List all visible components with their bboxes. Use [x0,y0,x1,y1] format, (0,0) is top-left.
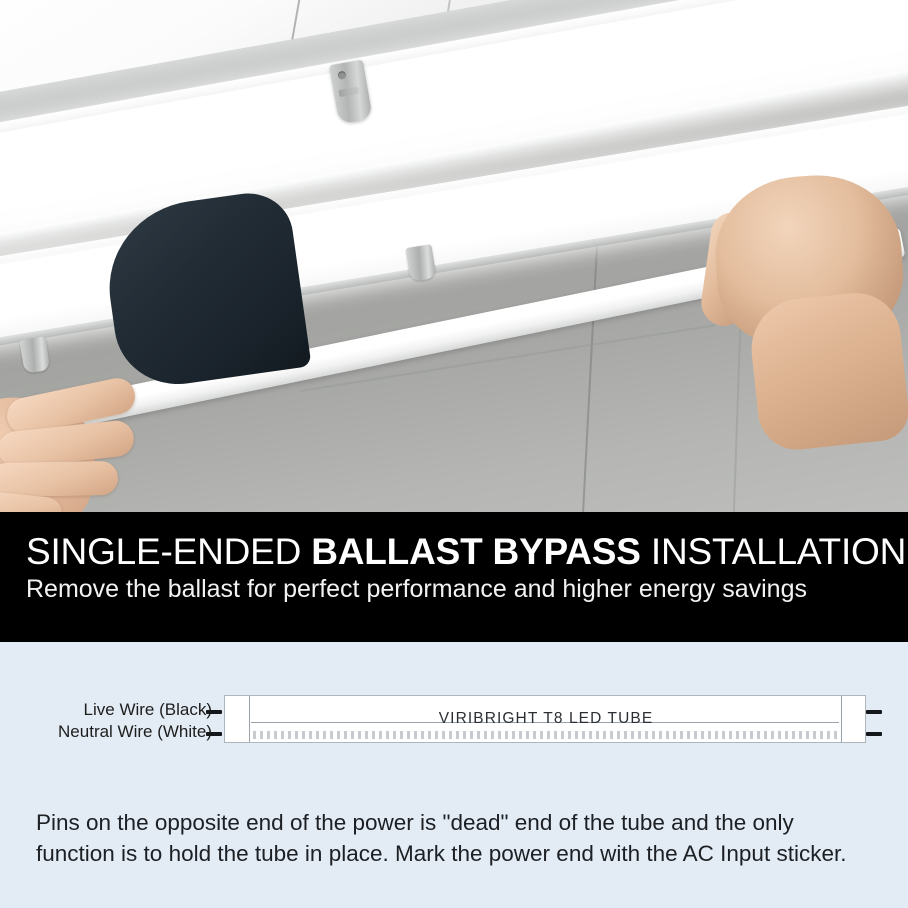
title-bold: BALLAST BYPASS [311,531,641,572]
live-wire-label: Live Wire (Black) [84,700,212,720]
tube-brand-label: VIRIBRIGHT T8 LED TUBE [225,710,867,728]
led-strip [253,731,837,739]
infographic-page: SINGLE-ENDED BALLAST BYPASS INSTALLATION… [0,0,908,908]
title-prefix: SINGLE-ENDED [26,531,311,572]
left-ring-finger [0,461,118,497]
page-subtitle: Remove the ballast for perfect performan… [26,574,896,604]
wiring-diagram: Live Wire (Black) Neutral Wire (White) V… [0,642,908,908]
installation-photo [0,0,908,512]
right-hand [700,176,908,512]
dead-end-pin-bottom [866,732,882,736]
fixture-mounting-clip [406,244,437,282]
right-wrist [747,289,908,454]
instruction-note: Pins on the opposite end of the power is… [36,807,876,869]
neutral-wire-label: Neutral Wire (White) [58,722,212,742]
live-wire-pin [206,710,222,714]
neutral-wire-pin [206,732,222,736]
dead-end-pin-top [866,710,882,714]
title-band: SINGLE-ENDED BALLAST BYPASS INSTALLATION… [0,512,908,642]
page-title: SINGLE-ENDED BALLAST BYPASS INSTALLATION [26,530,886,574]
title-suffix: INSTALLATION [641,531,906,572]
led-tube-diagram: VIRIBRIGHT T8 LED TUBE [224,695,866,743]
